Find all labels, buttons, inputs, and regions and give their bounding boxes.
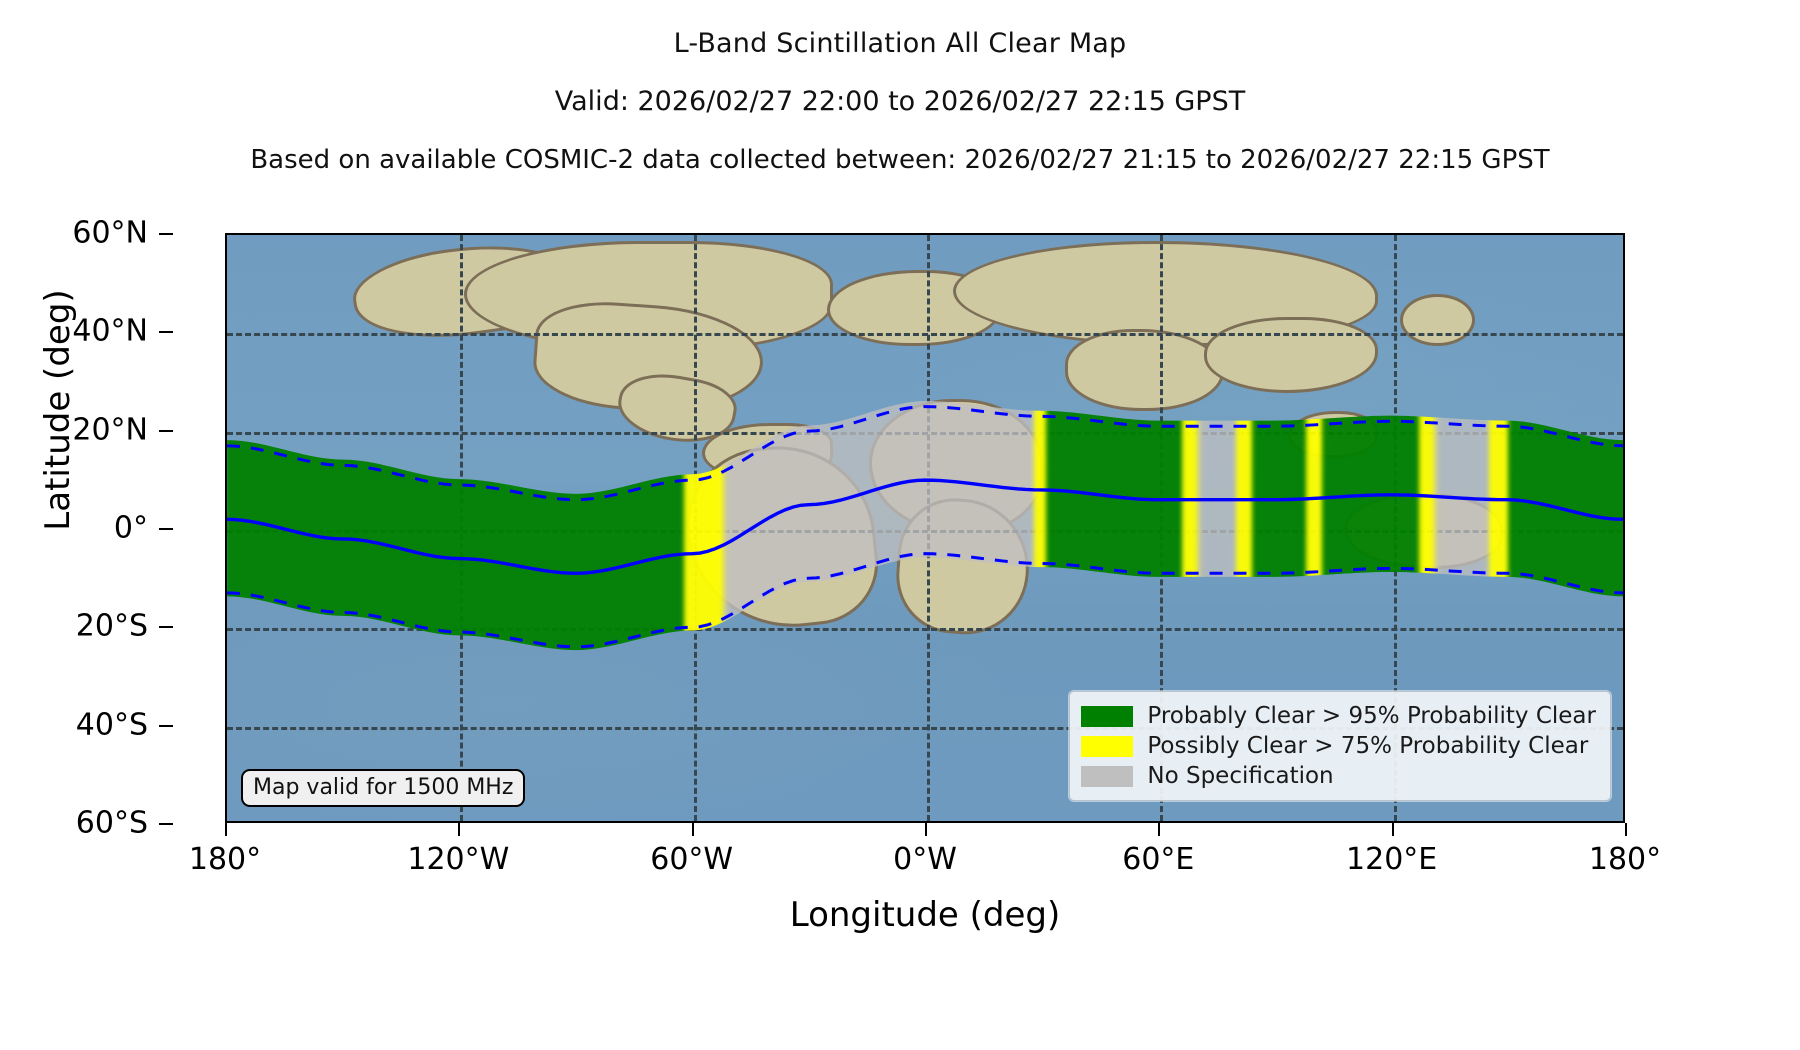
x-tick-label: 120°W [407,842,509,877]
y-tick-mark [159,233,173,235]
page-title: L-Band Scintillation All Clear Map [0,28,1800,59]
legend-item-no-specification: No Specification [1081,761,1596,791]
x-axis-title: Longitude (deg) [225,895,1625,935]
frequency-annotation: Map valid for 1500 MHz [241,769,525,807]
legend-swatch-probably-clear [1081,706,1133,727]
y-tick-label: 60°S [76,806,148,841]
y-axis-title: Latitude (deg) [38,240,78,580]
x-tick-mark [1392,823,1394,836]
y-tick-label: 60°N [72,216,148,251]
y-tick-label: 20°N [72,412,148,447]
magnetic-equator-south-boundary [227,554,1623,647]
x-tick-mark [692,823,694,836]
y-tick-mark [159,626,173,628]
map-plot-area[interactable]: Map valid for 1500 MHz Probably Clear > … [225,233,1625,823]
x-tick-mark [1158,823,1160,836]
y-tick-mark [159,331,173,333]
x-tick-label: 180° [1589,842,1661,877]
x-tick-label: 180° [189,842,261,877]
legend-label: No Specification [1147,763,1333,789]
legend-item-probably-clear: Probably Clear > 95% Probability Clear [1081,701,1596,731]
valid-period: Valid: 2026/02/27 22:00 to 2026/02/27 22… [0,86,1800,117]
x-tick-mark [1625,823,1627,836]
y-tick-label: 0° [114,511,148,546]
magnetic-equator-north-boundary [227,407,1623,500]
legend-swatch-no-specification [1081,766,1133,787]
x-tick-label: 60°W [650,842,733,877]
y-tick-mark [159,823,173,825]
magnetic-equator-line [227,480,1623,573]
y-tick-mark [159,528,173,530]
x-tick-mark [925,823,927,836]
y-tick-mark [159,725,173,727]
data-source-note: Based on available COSMIC-2 data collect… [0,145,1800,175]
legend-item-possibly-clear: Possibly Clear > 75% Probability Clear [1081,731,1596,761]
y-tick-label: 40°S [76,707,148,742]
y-tick-label: 20°S [76,609,148,644]
x-tick-mark [458,823,460,836]
legend: Probably Clear > 95% Probability ClearPo… [1069,691,1611,801]
x-tick-label: 60°E [1122,842,1194,877]
y-tick-mark [159,430,173,432]
x-tick-mark [225,823,227,836]
title-block: L-Band Scintillation All Clear Map Valid… [0,0,1800,175]
legend-label: Possibly Clear > 75% Probability Clear [1147,733,1588,759]
y-tick-label: 40°N [72,314,148,349]
x-tick-label: 0°W [893,842,957,877]
x-tick-label: 120°E [1346,842,1437,877]
legend-label: Probably Clear > 95% Probability Clear [1147,703,1596,729]
legend-swatch-possibly-clear [1081,736,1133,757]
